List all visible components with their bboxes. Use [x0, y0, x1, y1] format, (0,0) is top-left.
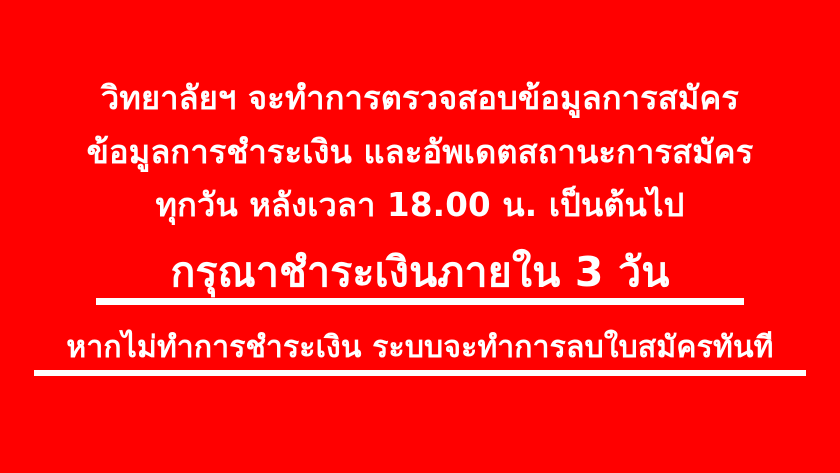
payment-deadline-text: กรุณาชำระเงินภายใน 3 วัน: [170, 248, 669, 296]
payment-deadline-underline: [96, 298, 744, 305]
notice-line-daily-time: ทุกวัน หลังเวลา 18.00 น. เป็นต้นไป: [156, 189, 685, 222]
deletion-warning-underline: [34, 370, 806, 376]
announcement-banner: วิทยาลัยฯ จะทำการตรวจสอบข้อมูลการสมัคร ข…: [0, 0, 840, 473]
deletion-warning-text: หากไม่ทำการชำระเงิน ระบบจะทำการลบใบสมัคร…: [66, 330, 773, 365]
notice-line-payment-deadline: กรุณาชำระเงินภายใน 3 วัน: [170, 252, 669, 305]
notice-text-block: วิทยาลัยฯ จะทำการตรวจสอบข้อมูลการสมัคร ข…: [0, 82, 840, 376]
notice-line-deletion-warning: หากไม่ทำการชำระเงิน ระบบจะทำการลบใบสมัคร…: [66, 333, 773, 376]
notice-line-payment-status: ข้อมูลการชำระเงิน และอัพเดตสถานะการสมัคร: [87, 136, 754, 169]
notice-line-review: วิทยาลัยฯ จะทำการตรวจสอบข้อมูลการสมัคร: [101, 82, 739, 115]
